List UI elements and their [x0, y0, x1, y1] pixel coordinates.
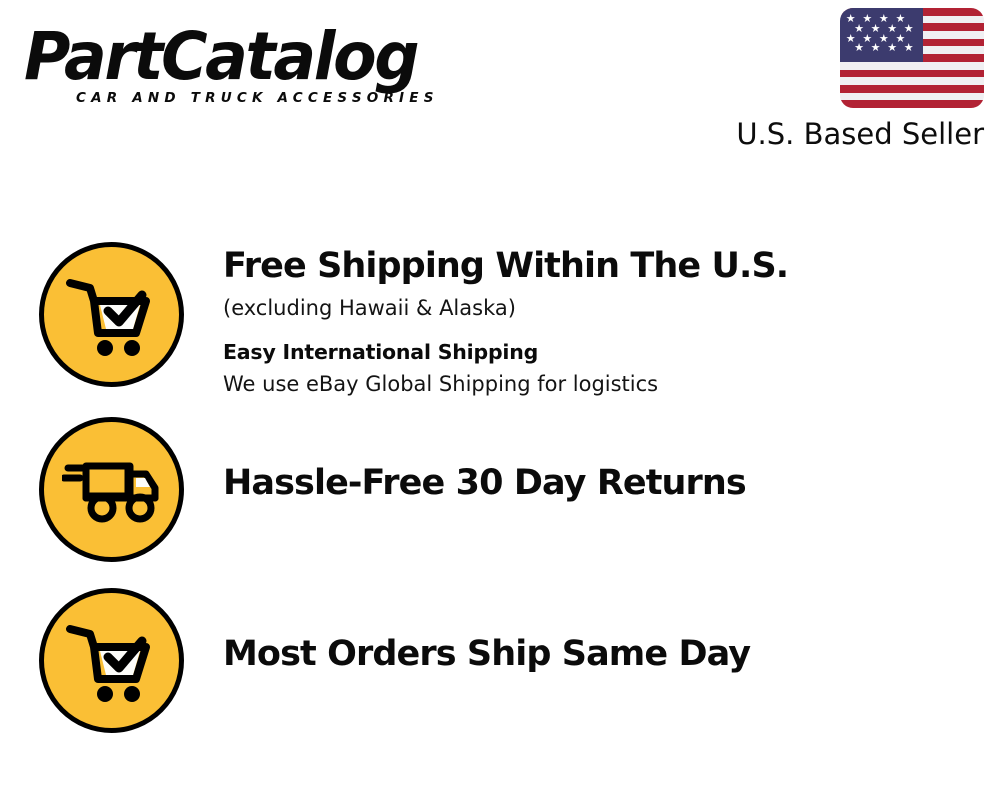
feature-subtitle: (excluding Hawaii & Alaska)	[223, 293, 1000, 324]
flag-stripe	[840, 93, 984, 101]
shopping-cart-check-icon	[39, 588, 184, 733]
flag-stripe	[840, 70, 984, 78]
feature-text: Hassle-Free 30 Day Returns	[223, 415, 1000, 505]
feature-title: Most Orders Ship Same Day	[223, 632, 1000, 676]
feature-text: Most Orders Ship Same Day	[223, 586, 1000, 676]
feature-title: Free Shipping Within The U.S.	[223, 244, 1000, 288]
feature-row: Most Orders Ship Same Day	[0, 586, 1000, 761]
seller-label: U.S. Based Seller	[684, 117, 984, 151]
delivery-truck-icon	[39, 417, 184, 562]
seller-badge: ★ ★ ★ ★ ★ ★ ★ ★ ★ ★ ★ ★ ★ ★ ★ ★ U.S. Bas…	[684, 8, 984, 151]
flag-canton: ★ ★ ★ ★ ★ ★ ★ ★ ★ ★ ★ ★ ★ ★ ★ ★	[840, 8, 923, 62]
feature-subtitle-strong: Easy International Shipping	[223, 337, 1000, 367]
feature-icon-wrap	[0, 240, 223, 387]
feature-row: Hassle-Free 30 Day Returns	[0, 415, 1000, 590]
feature-subtitle-detail: We use eBay Global Shipping for logistic…	[223, 369, 1000, 400]
flag-stripe	[840, 100, 984, 108]
feature-row: Free Shipping Within The U.S. (excluding…	[0, 240, 1000, 415]
feature-title: Hassle-Free 30 Day Returns	[223, 461, 1000, 505]
brand-logo[interactable]: PartCatalog CAR AND TRUCK ACCESSORIES	[24, 22, 494, 117]
flag-stripe	[840, 62, 984, 70]
flag-stripe	[840, 77, 984, 85]
feature-icon-wrap	[0, 586, 223, 733]
flag-stripe	[840, 85, 984, 93]
brand-wordmark: PartCatalog	[24, 22, 475, 92]
shopping-cart-check-icon	[39, 242, 184, 387]
header: PartCatalog CAR AND TRUCK ACCESSORIES ★ …	[0, 0, 1000, 170]
feature-text: Free Shipping Within The U.S. (excluding…	[223, 240, 1000, 400]
feature-icon-wrap	[0, 415, 223, 562]
us-flag-icon: ★ ★ ★ ★ ★ ★ ★ ★ ★ ★ ★ ★ ★ ★ ★ ★	[840, 8, 984, 108]
